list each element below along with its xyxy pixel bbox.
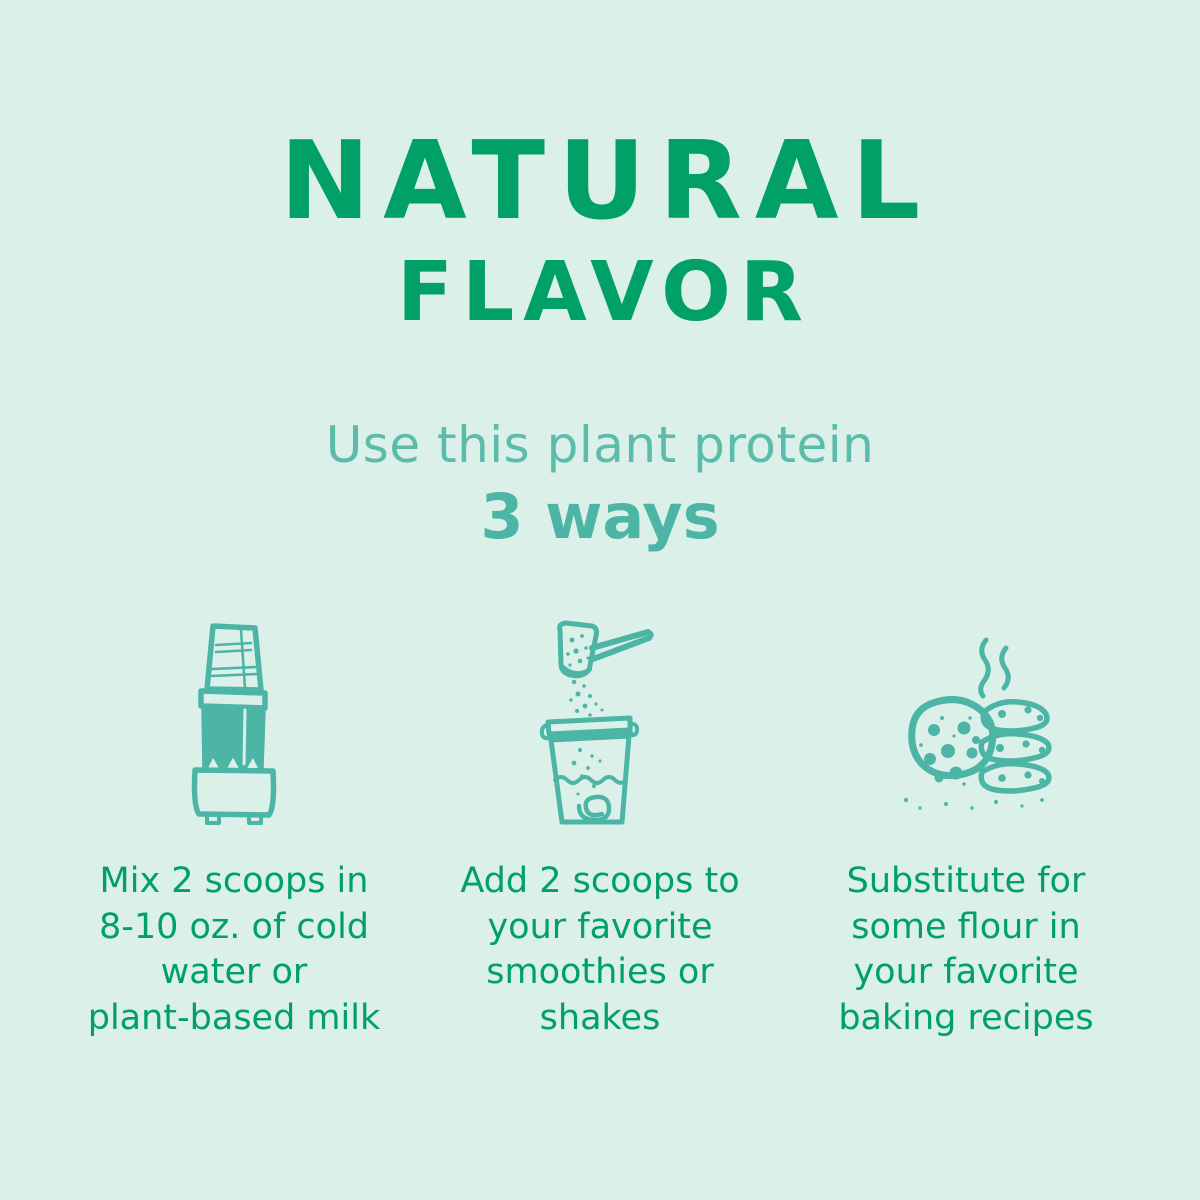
way-column-3: Substitute for some flour in your favori… [783,613,1149,1041]
cookies-icon [876,613,1056,833]
blender-icon [169,613,299,833]
subtitle-block: Use this plant protein 3 ways [0,418,1200,551]
caption-line: your favorite [838,950,1093,996]
caption-line: your favorite [460,905,739,951]
usage-ways-row: Mix 2 scoops in 8-10 oz. of cold water o… [0,613,1200,1041]
caption-line: Substitute for [838,859,1093,905]
caption-line: some flour in [838,905,1093,951]
caption-line: Mix 2 scoops in [88,859,381,905]
way-column-1: Mix 2 scoops in 8-10 oz. of cold water o… [51,613,417,1041]
caption-line: shakes [460,996,739,1042]
subtitle-emphasis: 3 ways [0,483,1200,551]
caption-line: baking recipes [838,996,1093,1042]
headline-block: NATURAL FLAVOR [0,0,1200,336]
way-column-2: Add 2 scoops to your favorite smoothies … [417,613,783,1041]
caption-line: water or [88,950,381,996]
way-caption-3: Substitute for some flour in your favori… [832,859,1099,1041]
way-caption-2: Add 2 scoops to your favorite smoothies … [454,859,745,1041]
scoop-shaker-icon [530,613,670,833]
way-caption-1: Mix 2 scoops in 8-10 oz. of cold water o… [82,859,387,1041]
headline-secondary: FLAVOR [0,250,1200,336]
subtitle-text: Use this plant protein [0,418,1200,473]
headline-primary: NATURAL [0,128,1200,236]
natural-flavor-poster: NATURAL FLAVOR Use this plant protein 3 … [0,0,1200,1200]
caption-line: smoothies or [460,950,739,996]
caption-line: Add 2 scoops to [460,859,739,905]
caption-line: 8-10 oz. of cold [88,905,381,951]
caption-line: plant-based milk [88,996,381,1042]
